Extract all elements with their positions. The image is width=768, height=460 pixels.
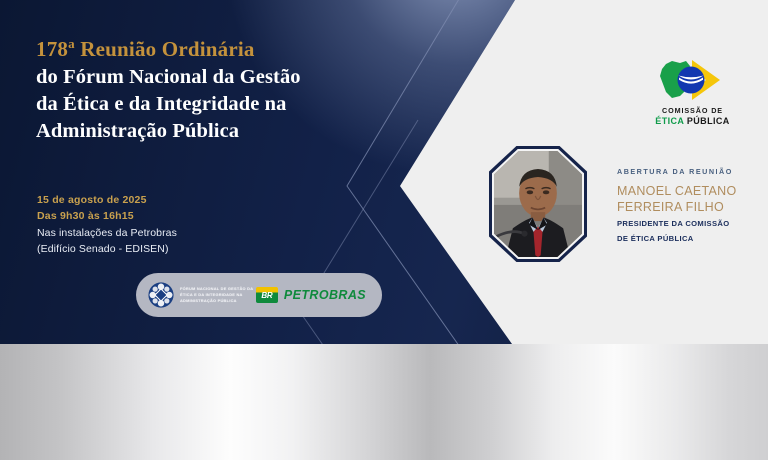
petrobras-br-text: BR	[261, 291, 272, 300]
comissao-etica-publica-logo: COMISSÃO DE ÉTICA PÚBLICA	[640, 58, 745, 126]
page-title: 178a Reunião Ordinária do Fórum Nacional…	[36, 36, 356, 145]
headline-line-2: do Fórum Nacional da Gestão	[36, 64, 356, 91]
speaker-info: ABERTURA DA REUNIÃO MANOEL CAETANO FERRE…	[617, 167, 767, 245]
emblem-publica-text: PÚBLICA	[687, 116, 730, 126]
speaker-name-line-1: MANOEL CAETANO	[617, 183, 767, 199]
emblem-etica-text: ÉTICA	[655, 116, 684, 126]
portrait-photo	[494, 151, 582, 257]
speaker-kicker: ABERTURA DA REUNIÃO	[617, 167, 767, 176]
speaker-role-line-1: PRESIDENTE DA COMISSÃO	[617, 219, 767, 230]
silver-bottom-band	[0, 344, 768, 460]
brazil-map-arrow-icon	[640, 58, 745, 104]
speaker-name-line-2: FERREIRA FILHO	[617, 199, 767, 215]
event-banner: 178a Reunião Ordinária do Fórum Nacional…	[0, 0, 768, 460]
petrobras-br-mark-icon: BR	[256, 287, 278, 303]
forum-nacional-logo: FÓRUM NACIONAL DE GESTÃO DA ÉTICA E DA I…	[148, 282, 256, 308]
event-time: Das 9h30 às 16h15	[37, 208, 317, 224]
forum-nacional-mark-icon	[148, 282, 174, 308]
event-details: 15 de agosto de 2025 Das 9h30 às 16h15 N…	[37, 192, 317, 257]
speaker-portrait	[489, 146, 587, 262]
forum-nacional-logo-text: FÓRUM NACIONAL DE GESTÃO DA ÉTICA E DA I…	[180, 286, 256, 304]
headline-gold-line: 178a Reunião Ordinária	[36, 36, 356, 63]
headline-line-4: Administração Pública	[36, 118, 356, 145]
emblem-line-2: ÉTICA PÚBLICA	[640, 116, 745, 126]
event-venue: Nas instalações da Petrobras	[37, 225, 317, 241]
petrobras-logo: BR PETROBRAS	[256, 287, 366, 303]
event-date: 15 de agosto de 2025	[37, 192, 317, 208]
sponsor-bar: FÓRUM NACIONAL DE GESTÃO DA ÉTICA E DA I…	[136, 273, 382, 317]
petrobras-wordmark: PETROBRAS	[284, 288, 366, 302]
emblem-line-1: COMISSÃO DE	[640, 106, 745, 115]
speaker-role-line-2: DE ÉTICA PÚBLICA	[617, 234, 767, 245]
event-venue-detail: (Edifício Senado - EDISEN)	[37, 241, 317, 257]
headline-line-3: da Ética e da Integridade na	[36, 91, 356, 118]
